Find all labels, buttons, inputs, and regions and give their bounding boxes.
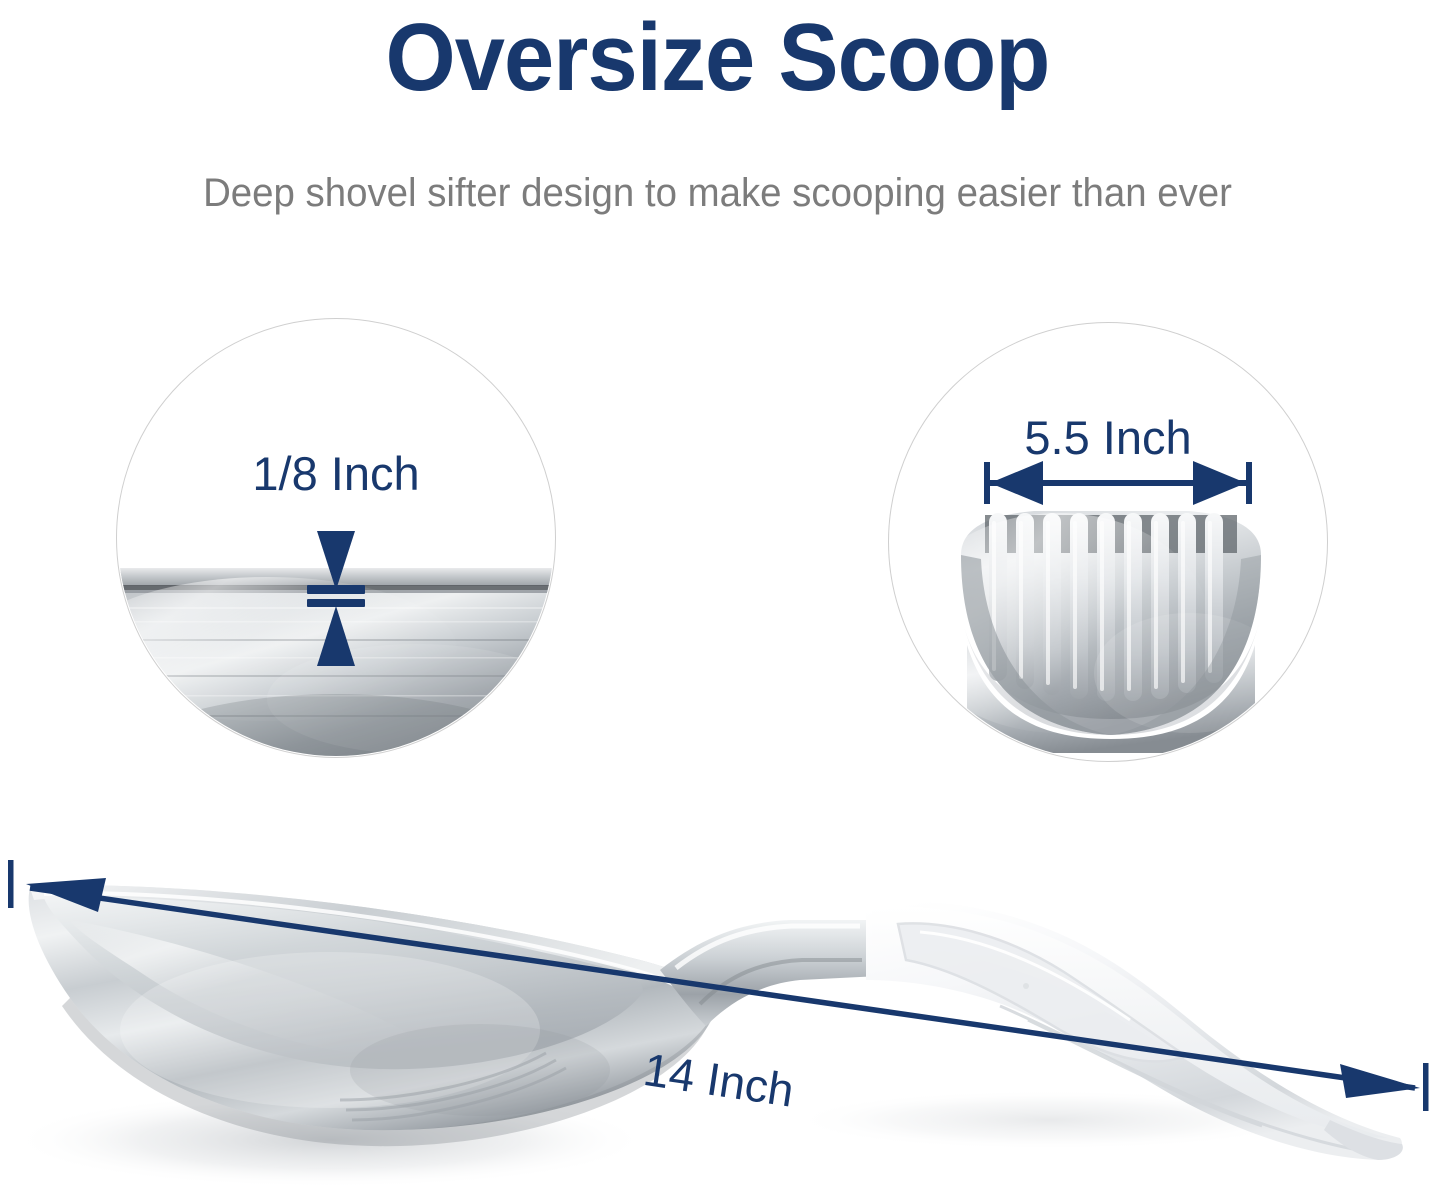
callout-circle-thickness: 1/8 Inch <box>116 318 556 758</box>
hero-product-image <box>0 820 1435 1189</box>
thickness-caliper-icon <box>117 319 555 757</box>
page-subtitle: Deep shovel sifter design to make scoopi… <box>29 168 1407 218</box>
product-infographic: Oversize Scoop Deep shovel sifter design… <box>0 0 1435 1189</box>
scoop-product-illustration <box>0 820 1435 1189</box>
page-title: Oversize Scoop <box>43 6 1392 110</box>
width-dimension-arrow-icon <box>889 323 1327 761</box>
width-measurement-label: 5.5 Inch <box>889 411 1327 465</box>
callout-circle-width: 5.5 Inch <box>888 322 1328 762</box>
thickness-measurement-label: 1/8 Inch <box>117 447 555 501</box>
